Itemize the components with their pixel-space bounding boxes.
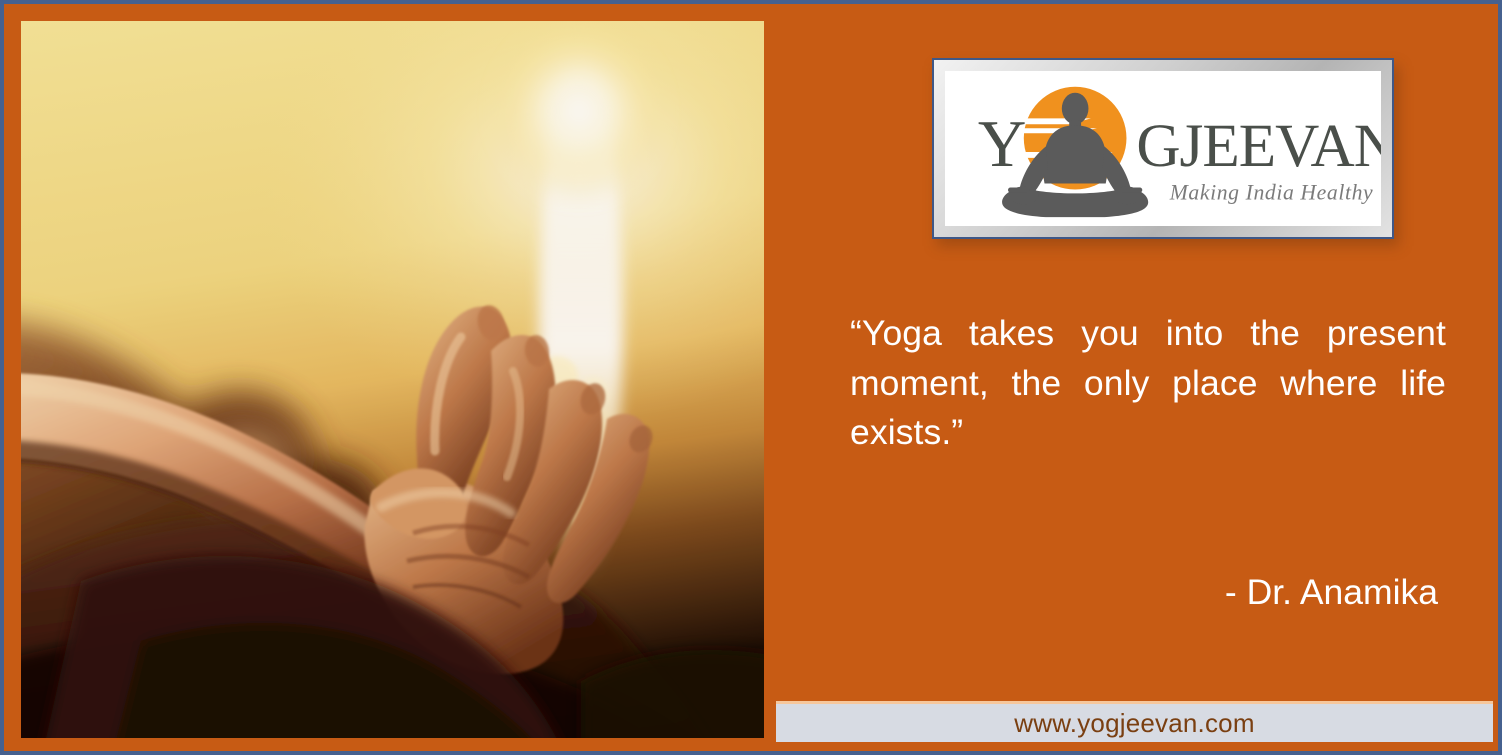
website-url[interactable]: www.yogjeevan.com [1014, 708, 1254, 739]
right-panel: Y GJEEVAN Making India Healthy “Yoga tak… [772, 4, 1498, 751]
logo-tagline: Making India Healthy [1169, 180, 1374, 204]
logo-inner-canvas: Y GJEEVAN Making India Healthy [945, 71, 1381, 226]
quote-text: “Yoga takes you into the present moment,… [850, 309, 1446, 458]
logo-wordmark: GJEEVAN [1136, 112, 1381, 180]
logo-letter-y: Y [978, 106, 1026, 181]
yoga-meditation-hand-photo [21, 21, 764, 738]
photo-frame [13, 13, 772, 746]
quote-attribution: - Dr. Anamika [850, 569, 1446, 615]
footer-band: www.yogjeevan.com [776, 701, 1493, 742]
quote-card: Y GJEEVAN Making India Healthy “Yoga tak… [0, 0, 1502, 755]
yogjeevan-logo-box[interactable]: Y GJEEVAN Making India Healthy [932, 58, 1394, 239]
